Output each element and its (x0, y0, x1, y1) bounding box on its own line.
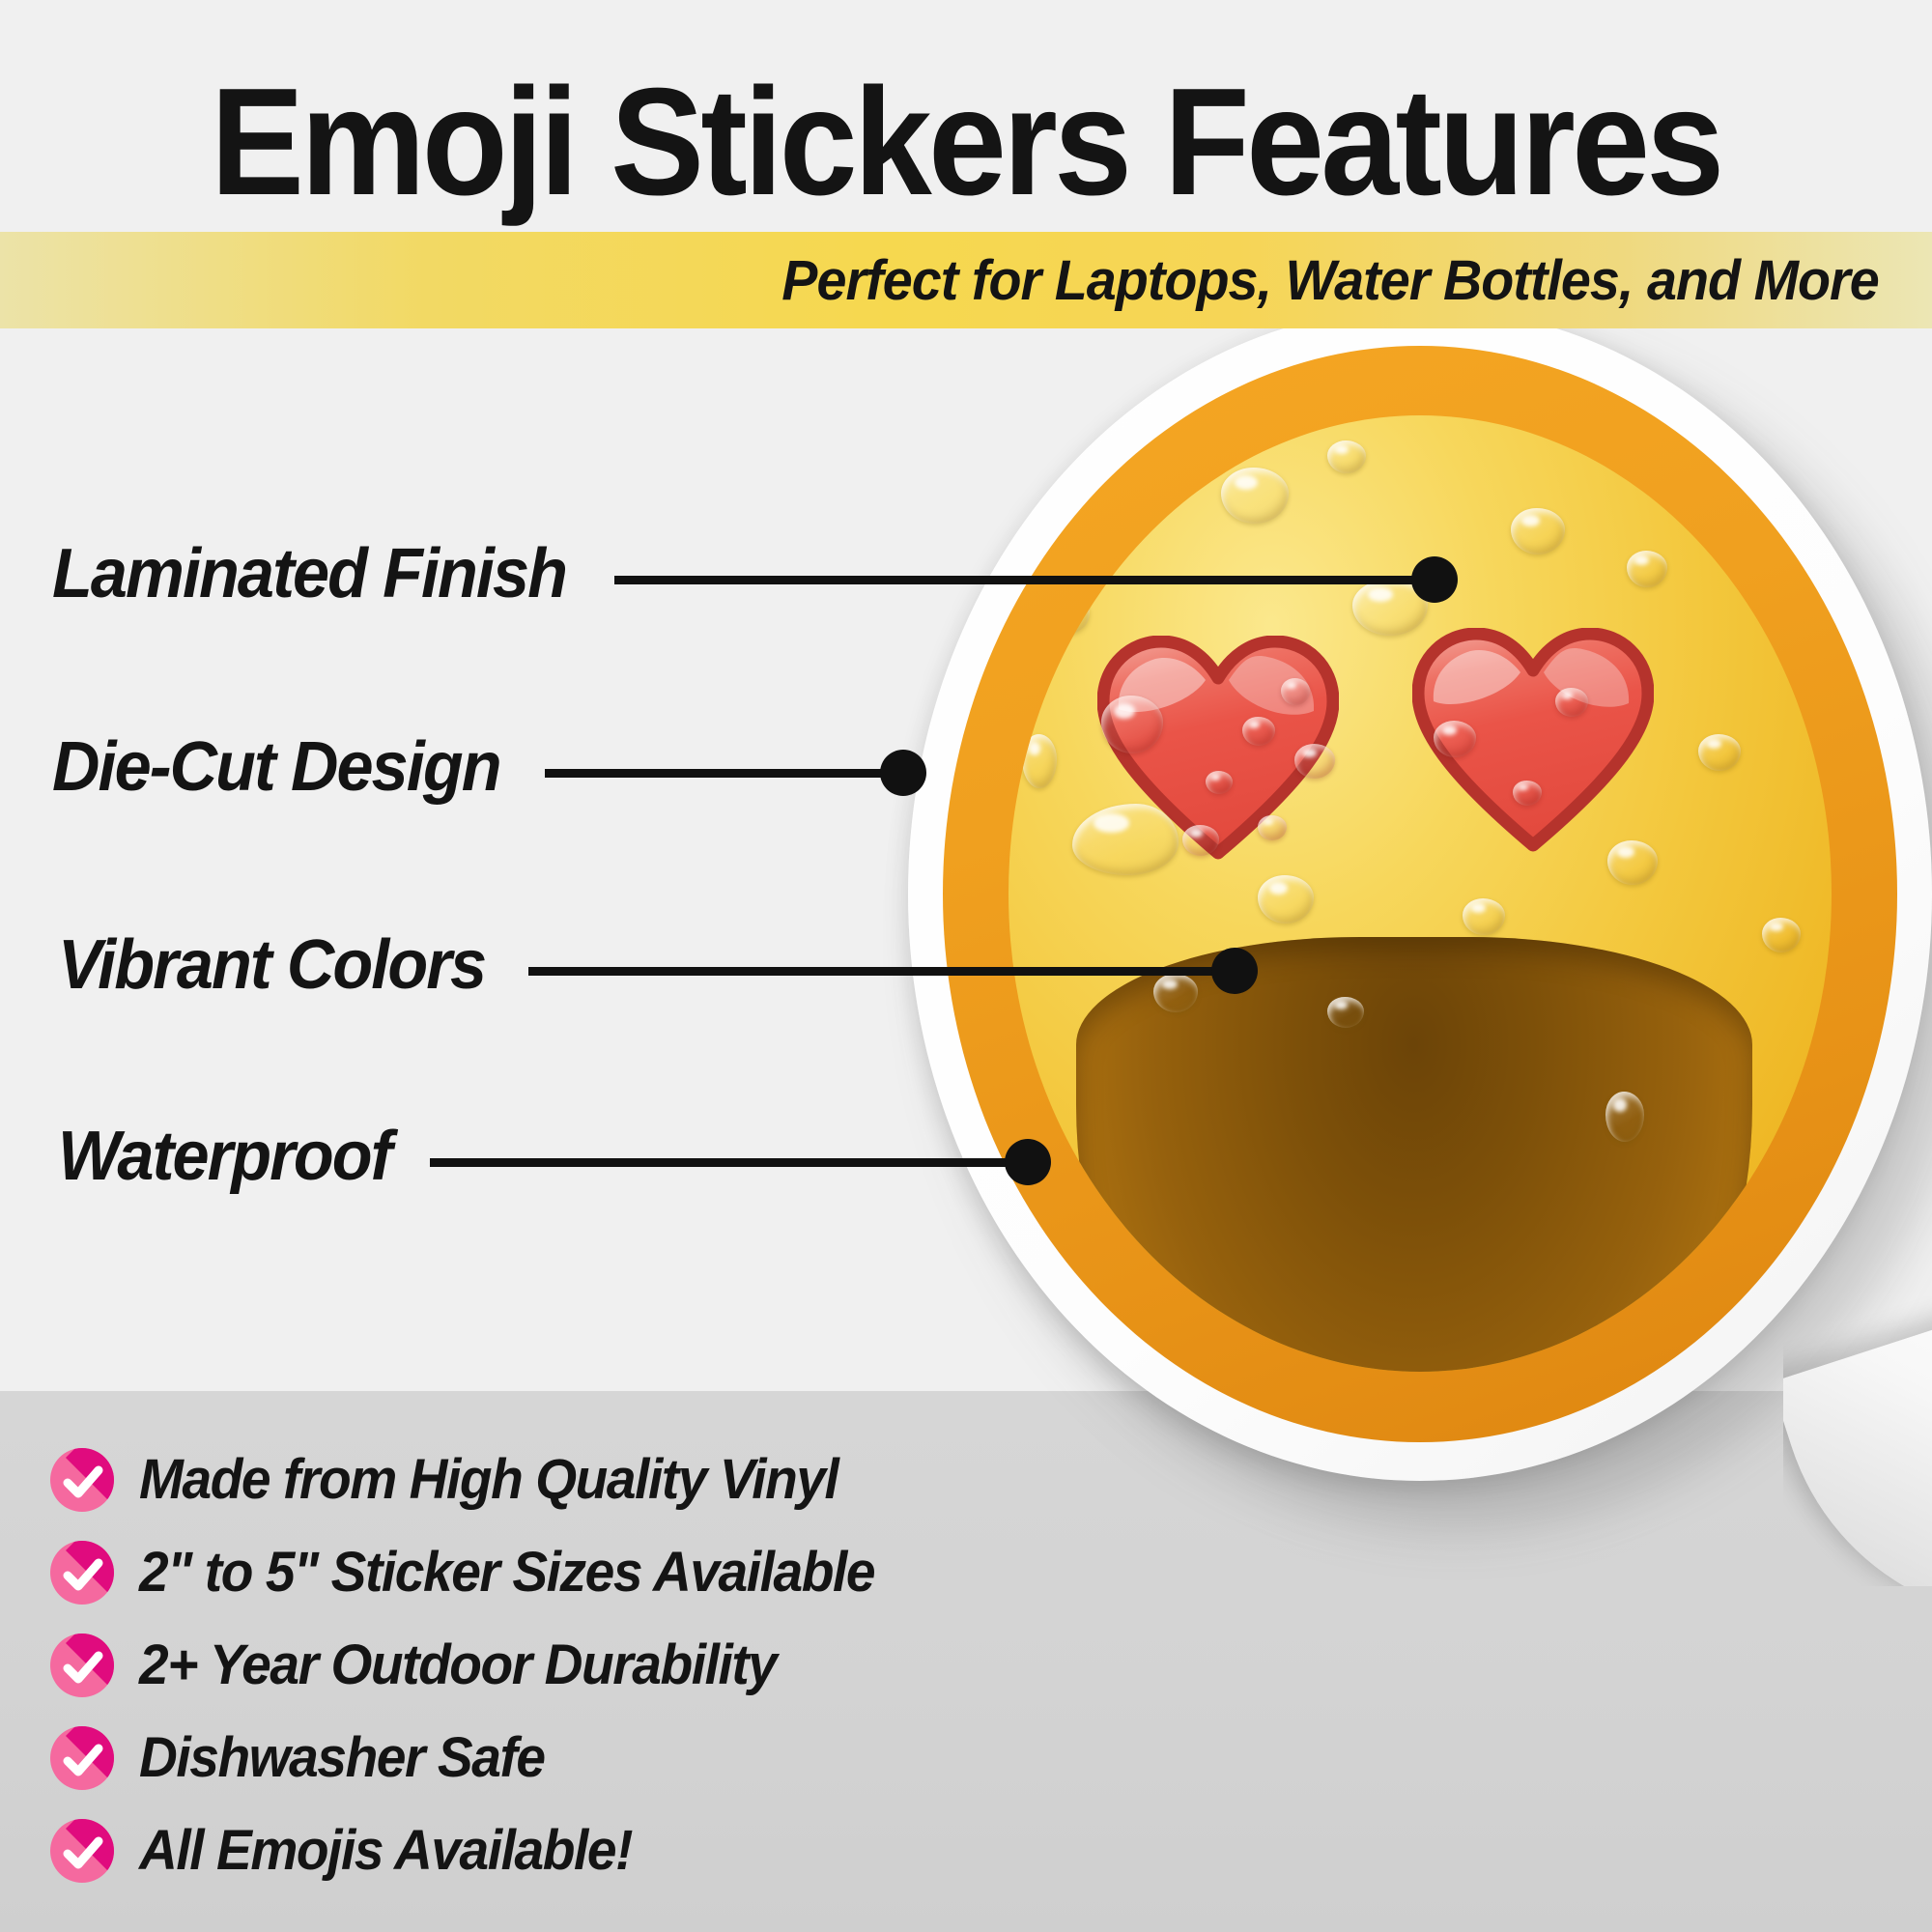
feature-checklist: Made from High Quality Vinyl 2" to 5" St… (50, 1435, 1132, 1899)
callout-label: Die-Cut Design (52, 732, 500, 802)
check-circle-icon (50, 1448, 114, 1512)
leader-line (614, 576, 1416, 584)
list-item-label: Dishwasher Safe (139, 1730, 545, 1786)
check-circle-icon (50, 1726, 114, 1790)
list-item-label: Made from High Quality Vinyl (139, 1452, 838, 1508)
header-bar: Emoji Stickers Features (0, 0, 1932, 232)
water-droplet (1698, 734, 1741, 771)
leader-line (430, 1158, 1009, 1167)
water-droplet (1022, 734, 1057, 788)
emoji-face (1009, 415, 1832, 1372)
list-item-label: 2+ Year Outdoor Durability (139, 1637, 777, 1693)
check-circle-icon (50, 1541, 114, 1605)
page-title: Emoji Stickers Features (211, 66, 1721, 232)
callout-label: Vibrant Colors (58, 930, 485, 1000)
check-circle-icon (50, 1634, 114, 1697)
list-item-label: All Emojis Available! (139, 1823, 632, 1879)
water-droplet (1072, 804, 1179, 875)
subtitle-text: Perfect for Laptops, Water Bottles, and … (782, 248, 1909, 313)
water-droplet (1762, 918, 1801, 952)
check-circle-icon (50, 1819, 114, 1883)
water-droplet (1221, 468, 1289, 524)
subtitle-ribbon: Perfect for Laptops, Water Bottles, and … (0, 232, 1932, 328)
list-item: 2" to 5" Sticker Sizes Available (50, 1528, 1132, 1617)
check-mark (63, 1740, 103, 1780)
list-item: Dishwasher Safe (50, 1714, 1132, 1803)
list-item: Made from High Quality Vinyl (50, 1435, 1132, 1524)
check-mark (63, 1462, 103, 1502)
check-mark (63, 1554, 103, 1595)
water-droplet (1463, 898, 1505, 935)
leader-dot (1411, 556, 1458, 603)
leader-dot (1005, 1139, 1051, 1185)
poster-canvas: Emoji Stickers Features Perfect for Lapt… (0, 0, 1932, 1932)
water-droplet (1047, 595, 1090, 634)
heart-eye-right (1412, 628, 1654, 852)
callout-label: Laminated Finish (52, 539, 566, 609)
emoji-sticker-image (908, 307, 1932, 1582)
water-droplet (1627, 551, 1667, 587)
water-droplet (1258, 875, 1314, 923)
callout-label: Waterproof (58, 1122, 391, 1191)
leader-dot (880, 750, 926, 796)
list-item-label: 2" to 5" Sticker Sizes Available (139, 1545, 874, 1601)
water-droplet (1607, 840, 1658, 885)
leader-line (545, 769, 885, 778)
check-mark (63, 1833, 103, 1873)
list-item: 2+ Year Outdoor Durability (50, 1621, 1132, 1710)
leader-line (528, 967, 1216, 976)
water-droplet (1327, 440, 1366, 473)
list-item: All Emojis Available! (50, 1806, 1132, 1895)
check-mark (63, 1647, 103, 1688)
water-droplet (1511, 508, 1565, 554)
